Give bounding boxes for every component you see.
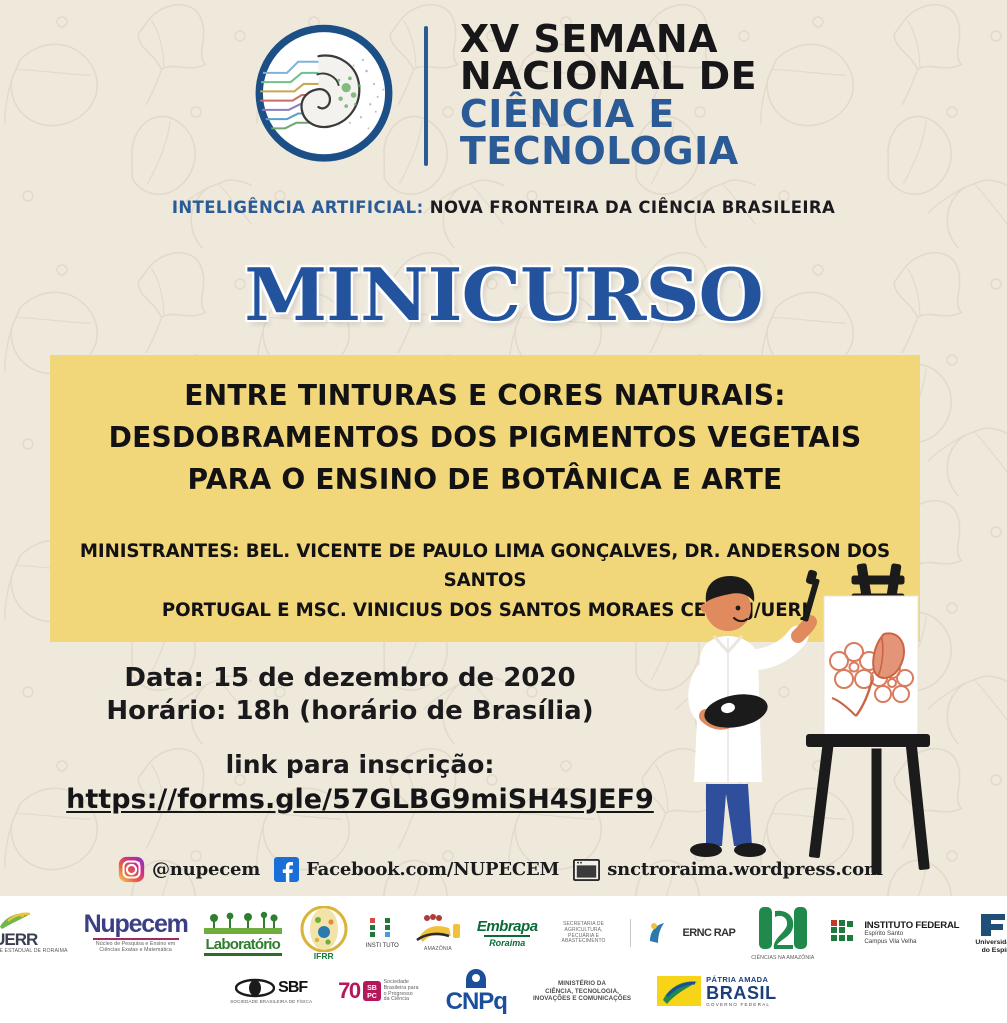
sbpc-anniversary: 70 [338, 980, 359, 1002]
sbpc-logo: 70 SB PC Sociedade Brasileira para o Pro… [338, 979, 419, 1004]
embrapa-logo-word: Embrapa [477, 919, 538, 934]
sponsor-logo-band: UERR UNIVERSIDADE ESTADUAL DE RORAIMA Nu… [0, 896, 1007, 1023]
sbpc-caption: Sociedade Brasileira para o Progresso da… [384, 980, 420, 1004]
event-time: Horário: 18h (horário de Brasília) [0, 695, 700, 728]
ufes-caption: Universidade Federal do Espírito Santo [975, 939, 1007, 955]
date-time-block: Data: 15 de dezembro de 2020 Horário: 18… [0, 662, 700, 729]
header-title-line-3: CIÊNCIA E [460, 96, 757, 133]
uerr-logo: UERR UNIVERSIDADE ESTADUAL DE RORAIMA [0, 911, 68, 955]
secretaria-caption: SECRETARIA DE AGRICULTURA, PECUÁRIA E AB… [554, 922, 614, 945]
website-link[interactable]: snctroraima.wordpress.com [573, 859, 883, 881]
uerr-logo-word: UERR [0, 931, 37, 948]
instituto-federal-es-logo: INSTITUTO FEDERAL Espírito Santo Campus … [830, 920, 959, 946]
facebook-icon [274, 857, 299, 882]
laboratorio-logo-word: Laboratório [205, 937, 280, 952]
course-title-line-1: ENTRE TINTURAS E CORES NATURAIS: [57, 375, 914, 417]
registration-link[interactable]: https://forms.gle/57GLBG9miSH4SJEF9 [0, 782, 720, 817]
sbf-logo-word: SBF [278, 980, 307, 996]
svg-text:PC: PC [367, 993, 377, 1000]
facebook-page: Facebook.com/NUPECEM [306, 859, 559, 880]
instituto-federal-rr-logo: INSTI TUTO [366, 917, 399, 950]
social-links-row: @nupecem Facebook.com/NUPECEM snctroraim… [118, 856, 883, 883]
patria-amada-brasil-logo: PÁTRIA AMADA BRASIL GOVERNO FEDERAL [657, 975, 777, 1007]
website-icon [573, 859, 600, 881]
instituto-federal-es-word: INSTITUTO FEDERAL [864, 921, 959, 931]
governo-federal-label: GOVERNO FEDERAL [706, 1002, 770, 1007]
nupecem-logo: Nupecem Núcleo de Pesquisa e Ensino em C… [84, 912, 188, 954]
ifrr-logo-word: IFRR [314, 952, 334, 961]
brasil-label: BRASIL [706, 984, 777, 1002]
universidade-caption: CIÊNCIAS NA AMAZÔNIA [751, 956, 814, 962]
laboratorio-logo: Laboratório [204, 911, 282, 956]
course-title-line-3: PARA O ENSINO DE BOTÂNICA E ARTE [57, 459, 914, 501]
header-title-line-1: XV SEMANA [460, 21, 757, 58]
website-url: snctroraima.wordpress.com [607, 859, 883, 880]
registration-label: link para inscrição: [0, 748, 720, 782]
sponsor-row-bottom: SBF SOCIEDADE BRASILEIRA DE FÍSICA 70 SB… [0, 966, 1007, 1016]
svg-text:SB: SB [367, 985, 377, 992]
subtitle-rest: NOVA FRONTEIRA DA CIÊNCIA BRASILEIRA [424, 198, 836, 217]
sbf-logo: SBF SOCIEDADE BRASILEIRA DE FÍSICA [230, 978, 312, 1004]
header-title-line-2: NACIONAL DE [460, 58, 757, 95]
secretaria-agricultura-logo: SECRETARIA DE AGRICULTURA, PECUÁRIA E AB… [554, 921, 614, 945]
ernc-rap-word: ERNC RAP [683, 928, 736, 939]
embrapa-logo: Embrapa Roraima [477, 919, 538, 948]
amazonia-logo-caption: AMAZÔNIA [424, 947, 452, 953]
sponsor-row-top: UERR UNIVERSIDADE ESTADUAL DE RORAIMA Nu… [0, 902, 1007, 964]
painter-figure [690, 569, 820, 857]
embrapa-rule [484, 935, 530, 937]
event-type-heading: MINICURSO [0, 252, 1007, 337]
header-divider [424, 26, 428, 166]
event-date: Data: 15 de dezembro de 2020 [0, 662, 700, 695]
mcti-logo: MINISTÉRIO DA CIÊNCIA, TECNOLOGIA, INOVA… [533, 979, 631, 1003]
logo-divider [630, 919, 631, 947]
ernc-rap-text-logo: ERNC RAP [683, 928, 736, 939]
cnpq-logo-word: CNPq [446, 990, 507, 1014]
brasil-flag-icon [657, 976, 701, 1006]
painter-at-easel-illustration [676, 556, 1007, 876]
poster-header: XV SEMANA NACIONAL DE CIÊNCIA E TECNOLOG… [0, 18, 1007, 173]
universidade-logo: CIÊNCIAS NA AMAZÔNIA [751, 905, 814, 962]
snct-circular-logo [250, 18, 398, 173]
instagram-handle: @nupecem [152, 859, 260, 880]
uerr-logo-caption: UNIVERSIDADE ESTADUAL DE RORAIMA [0, 949, 68, 955]
easel-legs [806, 734, 930, 870]
mcti-caption: MINISTÉRIO DA CIÊNCIA, TECNOLOGIA, INOVA… [533, 980, 631, 1003]
nupecem-rule [93, 938, 179, 940]
instagram-link[interactable]: @nupecem [118, 856, 260, 883]
amazonia-logo: AMAZÔNIA [415, 914, 461, 953]
cnpq-logo: CNPq [446, 968, 507, 1014]
subtitle-prefix: INTELIGÊNCIA ARTIFICIAL: [172, 198, 424, 217]
instituto-federal-rr-caption: INSTI TUTO [366, 943, 399, 950]
nupecem-logo-caption: Núcleo de Pesquisa e Ensino em Ciências … [92, 942, 180, 954]
course-title-line-2: DESDOBRAMENTOS DOS PIGMENTOS VEGETAIS [57, 417, 914, 459]
registration-block: link para inscrição: https://forms.gle/5… [0, 748, 720, 817]
event-poster: XV SEMANA NACIONAL DE CIÊNCIA E TECNOLOG… [0, 0, 1007, 1023]
instituto-federal-es-campus: Espírito Santo Campus Vila Velha [864, 930, 916, 945]
sbf-caption: SOCIEDADE BRASILEIRA DE FÍSICA [230, 999, 312, 1004]
paintbrush [802, 569, 820, 622]
course-title: ENTRE TINTURAS E CORES NATURAIS: DESDOBR… [57, 375, 914, 502]
ernc-rap-logo [647, 921, 667, 945]
ufes-logo: Universidade Federal do Espírito Santo [975, 911, 1007, 955]
facebook-link[interactable]: Facebook.com/NUPECEM [274, 857, 559, 882]
event-theme-subtitle: INTELIGÊNCIA ARTIFICIAL: NOVA FRONTEIRA … [0, 198, 1007, 217]
instagram-icon [118, 856, 145, 883]
laboratorio-rule [204, 953, 282, 956]
embrapa-unit: Roraima [489, 938, 525, 948]
nupecem-logo-word: Nupecem [84, 912, 188, 937]
ifrr-logo: IFRR [298, 906, 350, 961]
header-title-line-4: TECNOLOGIA [460, 133, 757, 170]
header-title-block: XV SEMANA NACIONAL DE CIÊNCIA E TECNOLOG… [460, 21, 757, 170]
